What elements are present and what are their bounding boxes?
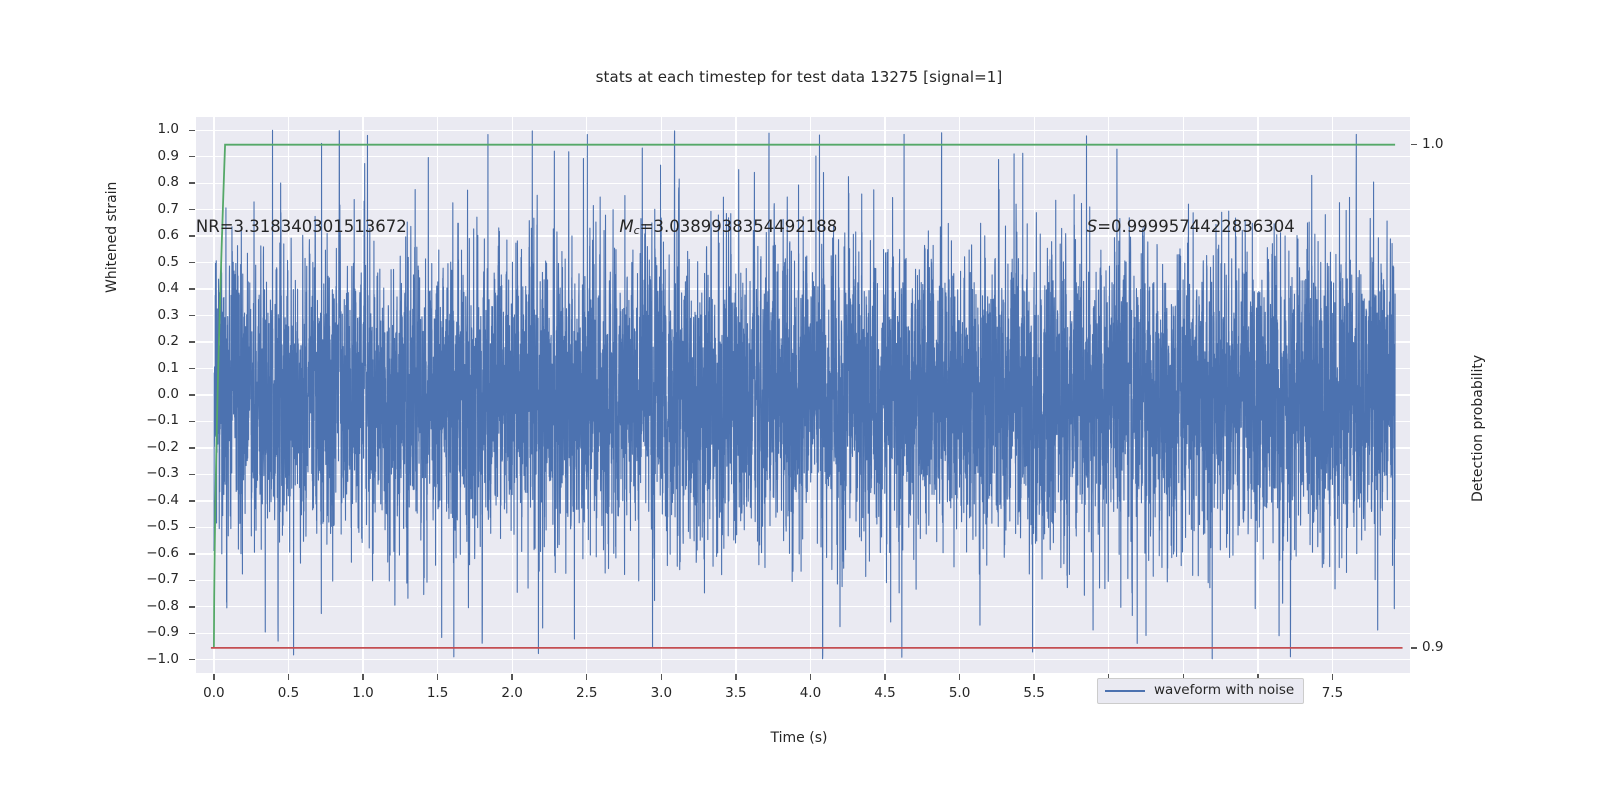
x-tick-mark [362, 674, 363, 680]
y-tick-mark-left [189, 474, 195, 475]
y-tick-label-left: 0.4 [119, 280, 179, 296]
annotation-snr-text: SNR=3.318340301513672 [196, 217, 407, 236]
annotation-mc-symbol: M [619, 217, 633, 236]
x-tick-mark [1332, 674, 1333, 680]
y-tick-mark-left [189, 288, 195, 289]
x-tick-mark [586, 674, 587, 680]
chart-legend[interactable]: waveform with noise [1097, 678, 1304, 704]
x-tick-mark [959, 674, 960, 680]
y-tick-label-left: 0.5 [119, 254, 179, 270]
x-tick-label: 4.0 [780, 685, 840, 701]
y-tick-mark-left [189, 341, 195, 342]
y-tick-mark-left [189, 659, 195, 660]
y-tick-label-left: 0.7 [119, 201, 179, 217]
chart-title: stats at each timestep for test data 132… [0, 68, 1600, 86]
annotation-score: S=0.9999574422836304 [1087, 217, 1295, 236]
annotation-chirp-mass: Mc=3.0389938354492188 [619, 217, 837, 237]
y-axis-left-label: Whitened strain [104, 73, 120, 293]
legend-label: waveform with noise [1154, 684, 1294, 698]
y-tick-mark-left [189, 500, 195, 501]
annotation-s-symbol: S [1087, 217, 1097, 236]
y-tick-mark-left [189, 606, 195, 607]
y-tick-label-left: −0.3 [119, 465, 179, 481]
y-tick-mark-left [189, 182, 195, 183]
x-tick-label: 3.5 [706, 685, 766, 701]
x-tick-label: 0.5 [258, 685, 318, 701]
y-tick-label-left: 0.6 [119, 227, 179, 243]
chart-title-text: stats at each timestep for test data 132… [596, 68, 1003, 86]
y-tick-label-left: −0.5 [119, 518, 179, 534]
y-tick-mark-left [189, 580, 195, 581]
y-tick-label-left: 0.8 [119, 174, 179, 190]
x-tick-mark [810, 674, 811, 680]
x-tick-mark [884, 674, 885, 680]
x-tick-label: 1.0 [333, 685, 393, 701]
y-tick-mark-left [189, 235, 195, 236]
y-tick-mark-left [189, 447, 195, 448]
y-tick-label-left: 0.2 [119, 333, 179, 349]
y-tick-label-left: 0.0 [119, 386, 179, 402]
x-tick-label: 2.0 [482, 685, 542, 701]
y-tick-label-left: −0.1 [119, 412, 179, 428]
x-tick-mark [437, 674, 438, 680]
y-tick-mark-left [189, 527, 195, 528]
x-tick-label: 5.0 [930, 685, 990, 701]
annotation-mc-value: =3.0389938354492188 [640, 217, 838, 236]
y-tick-mark-left [189, 553, 195, 554]
x-tick-label: 1.5 [408, 685, 468, 701]
y-tick-mark-left [189, 394, 195, 395]
y-tick-label-left: −0.7 [119, 571, 179, 587]
y-tick-label-left: 0.1 [119, 360, 179, 376]
y-tick-mark-left [189, 156, 195, 157]
x-tick-label: 5.5 [1004, 685, 1064, 701]
x-tick-mark [1033, 674, 1034, 680]
y-tick-label-right: 1.0 [1422, 136, 1482, 152]
x-tick-label: 7.5 [1302, 685, 1362, 701]
x-tick-mark [661, 674, 662, 680]
legend-line-swatch [1105, 690, 1145, 692]
y-tick-label-right: 0.9 [1422, 639, 1482, 655]
annotation-snr: SNR=3.318340301513672 [196, 217, 407, 236]
y-tick-mark-left [189, 421, 195, 422]
x-tick-mark [735, 674, 736, 680]
overlay-series [196, 117, 1410, 673]
x-tick-label: 2.5 [557, 685, 617, 701]
y-tick-mark-left [189, 633, 195, 634]
y-tick-mark-left [189, 130, 195, 131]
annotation-s-value: =0.9999574422836304 [1097, 217, 1295, 236]
x-tick-label: 4.5 [855, 685, 915, 701]
y-tick-label-left: 0.3 [119, 307, 179, 323]
y-tick-mark-left [189, 262, 195, 263]
y-tick-label-left: 1.0 [119, 121, 179, 137]
x-tick-label: 3.0 [631, 685, 691, 701]
x-tick-label: 0.0 [184, 685, 244, 701]
y-tick-mark-left [189, 209, 195, 210]
y-tick-label-left: −0.8 [119, 598, 179, 614]
y-tick-mark-left [189, 368, 195, 369]
x-tick-mark [511, 674, 512, 680]
y-tick-label-left: −0.2 [119, 439, 179, 455]
x-tick-mark [213, 674, 214, 680]
plot-area: SNR=3.318340301513672 Mc=3.0389938354492… [196, 117, 1410, 673]
y-tick-mark-left [189, 315, 195, 316]
matplotlib-figure: stats at each timestep for test data 132… [0, 0, 1600, 800]
y-tick-mark-right [1411, 144, 1417, 145]
y-tick-label-left: 0.9 [119, 148, 179, 164]
y-tick-label-left: −0.6 [119, 545, 179, 561]
x-axis-label: Time (s) [0, 730, 1600, 746]
y-tick-label-left: −0.4 [119, 492, 179, 508]
y-tick-label-left: −1.0 [119, 651, 179, 667]
x-tick-mark [288, 674, 289, 680]
y-tick-label-left: −0.9 [119, 624, 179, 640]
y-tick-mark-right [1411, 647, 1417, 648]
y-axis-right-label: Detection probability [1470, 242, 1486, 502]
